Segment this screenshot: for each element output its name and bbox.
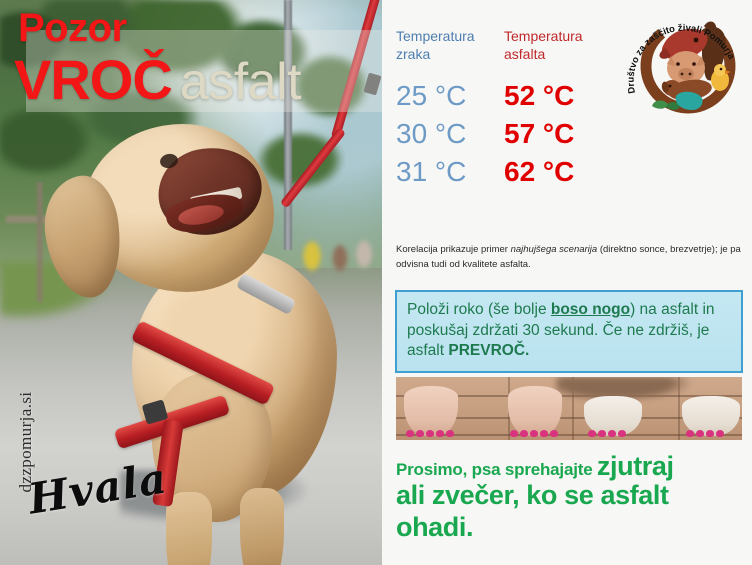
asphalt-temp-value: 62 °C bbox=[504, 155, 612, 189]
table-body: 25 °C 52 °C 30 °C 57 °C 31 °C 62 °C bbox=[396, 79, 626, 189]
test-text-part1: Položi roko (še bolje bbox=[407, 301, 551, 318]
header-asfalt: asfalt bbox=[180, 53, 301, 111]
feet-and-paws-photo bbox=[396, 377, 742, 440]
asphalt-test-text: Položi roko (še bolje boso nogo) na asfa… bbox=[407, 300, 731, 362]
advice-line-3: ohadi. bbox=[396, 512, 746, 544]
column-header-air: Temperatura zraka bbox=[396, 28, 504, 63]
organization-logo[interactable]: Društvo za zaščito živali Pomurja bbox=[624, 4, 746, 116]
asphalt-temp-value: 57 °C bbox=[504, 117, 612, 151]
advice-line-2: ali zvečer, ko se asfalt bbox=[396, 480, 746, 512]
air-temp-value: 25 °C bbox=[396, 79, 504, 113]
table-row: 25 °C 52 °C bbox=[396, 79, 626, 113]
column-header-asphalt: Temperatura asfalta bbox=[504, 28, 612, 63]
dog-photo: Pozor VROČasfalt dzzpomurja.si Hvala bbox=[0, 0, 382, 565]
correlation-note: Korelacija prikazuje primer najhujšega s… bbox=[396, 243, 742, 272]
advice-big-zjutraj: zjutraj bbox=[597, 451, 674, 481]
painted-dog-nails bbox=[588, 430, 626, 437]
human-foot-right bbox=[508, 386, 562, 436]
test-text-underlined: boso nogo bbox=[551, 301, 630, 318]
painted-toenails bbox=[510, 430, 558, 437]
logo-svg: Društvo za zaščito živali Pomurja bbox=[624, 4, 746, 116]
painted-dog-nails bbox=[686, 430, 724, 437]
human-foot-left bbox=[404, 386, 458, 436]
painted-toenails bbox=[406, 430, 454, 437]
note-emphasis: najhujšega scenarija bbox=[511, 244, 598, 255]
temperature-table: Temperatura zraka Temperatura asfalta 25… bbox=[396, 28, 626, 193]
asphalt-temp-value: 52 °C bbox=[504, 79, 612, 113]
advice-line-1: Prosimo, psa sprehajajte zjutraj bbox=[396, 452, 746, 480]
bottom-advice-message: Prosimo, psa sprehajajte zjutraj ali zve… bbox=[396, 452, 746, 544]
air-temp-value: 30 °C bbox=[396, 117, 504, 151]
header-second-line: VROČasfalt bbox=[14, 52, 301, 108]
table-row: 30 °C 57 °C bbox=[396, 117, 626, 151]
advice-small-text: Prosimo, psa sprehajajte bbox=[396, 460, 592, 479]
air-temp-value: 31 °C bbox=[396, 155, 504, 189]
header-pozor: Pozor bbox=[18, 8, 127, 48]
poster-root: Pozor VROČasfalt dzzpomurja.si Hvala bbox=[0, 0, 752, 565]
table-row: 31 °C 62 °C bbox=[396, 155, 626, 189]
table-header-row: Temperatura zraka Temperatura asfalta bbox=[396, 28, 626, 63]
test-text-bold: PREVROČ. bbox=[448, 342, 529, 359]
info-panel: Društvo za zaščito živali Pomurja Temper… bbox=[382, 0, 752, 565]
header-vroc: VROČ bbox=[14, 48, 172, 111]
note-part1: Korelacija prikazuje primer bbox=[396, 244, 511, 255]
asphalt-test-box: Položi roko (še bolje boso nogo) na asfa… bbox=[395, 290, 743, 373]
